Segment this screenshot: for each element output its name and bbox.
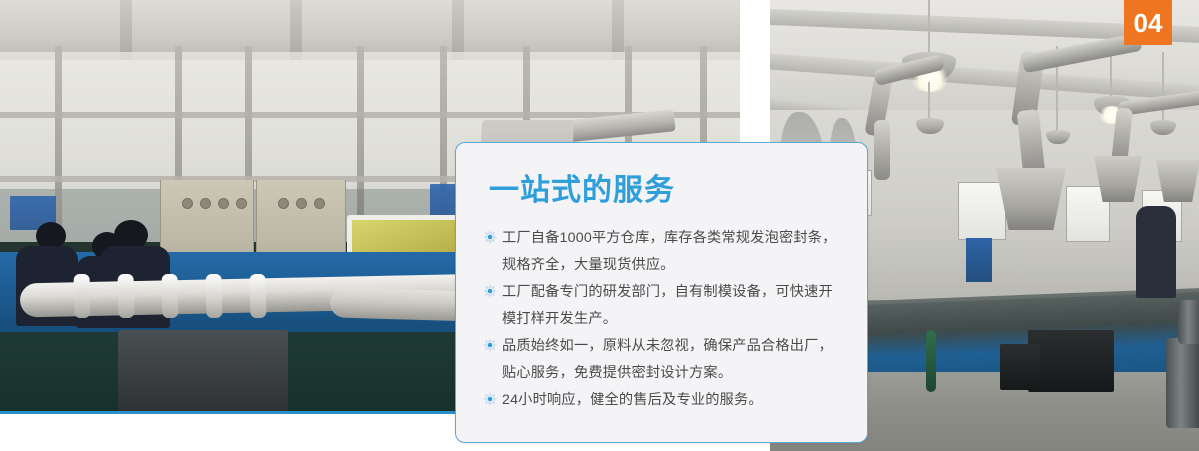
green-post <box>926 330 936 392</box>
lamp-cord <box>1162 52 1164 124</box>
list-item: 工厂自备1000平方仓库，库存各类常规发泡密封条，规格齐全，大量现货供应。 <box>483 225 843 279</box>
list-item-text: 工厂配备专门的研发部门，自有制模设备，可快速开模打样开发生产。 <box>502 279 843 333</box>
worker-body <box>1136 206 1176 298</box>
vent-pipe <box>874 120 890 180</box>
list-item: 品质始终如一，原料从未忽视，确保产品合格出厂，贴心服务，免费提供密封设计方案。 <box>483 333 843 387</box>
storage-crate <box>1028 330 1114 392</box>
barrel-ring <box>118 274 135 318</box>
cabinet-knob <box>200 198 211 209</box>
ceiling-beam <box>452 0 464 60</box>
extruder-motor <box>118 330 288 414</box>
step-number-badge: 04 <box>1124 0 1172 45</box>
ceiling-beam <box>612 0 624 60</box>
barrel-ring <box>74 274 91 318</box>
target-diamond-icon <box>483 230 497 244</box>
list-item-text: 工厂自备1000平方仓库，库存各类常规发泡密封条，规格齐全，大量现货供应。 <box>502 225 843 279</box>
list-item-text: 24小时响应，健全的售后及专业的服务。 <box>502 387 843 414</box>
cabinet-knob <box>236 198 247 209</box>
cabinet-knob <box>182 198 193 209</box>
window-mullion <box>55 46 62 246</box>
target-diamond-icon <box>483 392 497 406</box>
storage-crate <box>1000 344 1040 390</box>
bullet-list: 工厂自备1000平方仓库，库存各类常规发泡密封条，规格齐全，大量现货供应。 工厂… <box>483 225 843 414</box>
card-title: 一站式的服务 <box>489 165 675 209</box>
lamp-cord <box>928 82 930 122</box>
metal-drum <box>1178 300 1199 344</box>
cabinet-knob <box>218 198 229 209</box>
list-item: 24小时响应，健全的售后及专业的服务。 <box>483 387 843 414</box>
ceiling-beam <box>290 0 302 60</box>
barrel-ring <box>162 274 179 318</box>
cabinet-knob <box>296 198 307 209</box>
list-item-text: 品质始终如一，原料从未忽视，确保产品合格出厂，贴心服务，免费提供密封设计方案。 <box>502 333 843 387</box>
promo-banner: 04 一站式的服务 工厂自备1000平方仓库，库存各类常规发泡密封条，规格齐全， <box>0 0 1199 451</box>
wall-window <box>958 182 1006 240</box>
blue-door <box>966 238 992 282</box>
target-diamond-icon <box>483 338 497 352</box>
cabinet-knob <box>314 198 325 209</box>
ceiling-beam <box>120 0 132 60</box>
step-number-label: 04 <box>1134 10 1163 36</box>
target-diamond-icon <box>483 284 497 298</box>
service-info-card: 一站式的服务 工厂自备1000平方仓库，库存各类常规发泡密封条，规格齐全，大量现… <box>455 142 868 443</box>
barrel-ring <box>250 274 267 318</box>
cabinet-knob <box>278 198 289 209</box>
lamp-cord <box>928 0 930 58</box>
metal-drum <box>1166 338 1199 428</box>
list-item: 工厂配备专门的研发部门，自有制模设备，可快速开模打样开发生产。 <box>483 279 843 333</box>
barrel-ring <box>206 274 223 318</box>
